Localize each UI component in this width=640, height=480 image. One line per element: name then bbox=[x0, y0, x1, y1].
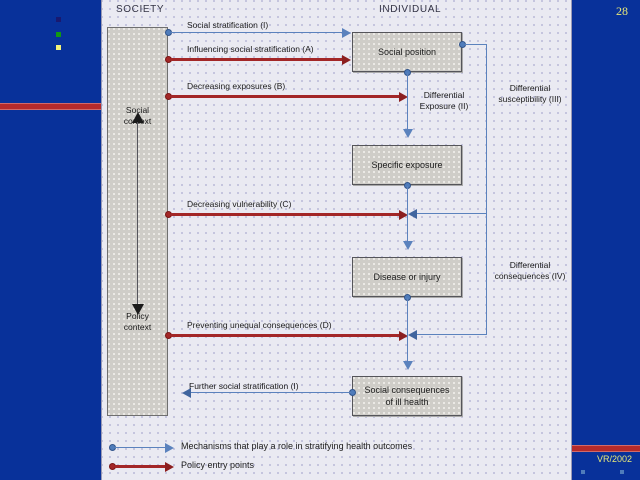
legend-label-mechanisms: Mechanisms that play a role in stratifyi… bbox=[181, 441, 412, 451]
legend-arrow-mechanisms-icon bbox=[165, 443, 174, 453]
connector-line-social-stratification bbox=[171, 32, 345, 33]
arrow-left-branch-consequences-icon bbox=[408, 330, 417, 340]
box-disease-or-injury: Disease or injury bbox=[352, 257, 462, 297]
side-label-differential-exposure: Differential Exposure (II) bbox=[408, 90, 480, 112]
connector-label-influencing-social-stratification: Influencing social stratification (A) bbox=[187, 44, 314, 54]
box-social-position: Social position bbox=[352, 32, 462, 72]
side-label-differential-susceptibility-line2: susceptibility (III) bbox=[498, 94, 561, 104]
footer-dot-left bbox=[581, 470, 585, 474]
arrow-left-branch-vulnerability-icon bbox=[408, 209, 417, 219]
arrow-down-to-specific-exposure-icon bbox=[403, 129, 413, 138]
connector-label-decreasing-vulnerability: Decreasing vulnerability (C) bbox=[187, 199, 291, 209]
arrow-right-social-stratification-icon bbox=[342, 28, 351, 38]
legend-label-policy: Policy entry points bbox=[181, 460, 254, 470]
heading-individual: INDIVIDUAL bbox=[379, 4, 441, 15]
context-label-policy-line2: context bbox=[107, 322, 168, 333]
legend-line-policy bbox=[115, 465, 168, 468]
box-social-consequences: Social consequences of ill health bbox=[352, 376, 462, 416]
connector-line-preventing-unequal-consequences bbox=[171, 334, 402, 337]
decor-dot-green bbox=[56, 32, 61, 37]
connector-label-social-stratification: Social stratification (I) bbox=[187, 20, 268, 30]
side-label-differential-exposure-line1: Differential bbox=[424, 90, 464, 100]
connector-label-decreasing-exposures: Decreasing exposures (B) bbox=[187, 81, 285, 91]
connector-label-preventing-unequal-consequences: Preventing unequal consequences (D) bbox=[187, 320, 332, 330]
spine-line-branch-consequences bbox=[417, 334, 487, 335]
side-label-differential-consequences-line2: consequences (IV) bbox=[495, 271, 566, 281]
decor-dot-navy bbox=[56, 17, 61, 22]
connector-line-decreasing-exposures bbox=[171, 95, 402, 98]
spine-line-position-right-out bbox=[465, 44, 486, 45]
slide-footer: VR/2002 bbox=[597, 454, 632, 464]
box-specific-exposure-label: Specific exposure bbox=[371, 159, 442, 171]
box-social-consequences-label-line2: of ill health bbox=[385, 396, 428, 408]
right-red-rule bbox=[572, 446, 640, 451]
connector-label-further-social-stratification: Further social stratification (I) bbox=[189, 381, 299, 391]
spine-line-branch-vulnerability bbox=[417, 213, 487, 214]
side-label-differential-consequences: Differential consequences (IV) bbox=[486, 260, 572, 282]
side-label-differential-susceptibility-line1: Differential bbox=[510, 83, 550, 93]
side-label-differential-susceptibility: Differential susceptibility (III) bbox=[486, 83, 572, 105]
legend-arrow-policy-icon bbox=[165, 462, 174, 472]
heading-society: SOCIETY bbox=[116, 4, 164, 15]
arrow-down-to-social-consequences-icon bbox=[403, 361, 413, 370]
legend-line-mechanisms bbox=[115, 447, 168, 448]
diagram-canvas: SOCIETY INDIVIDUAL Social context Policy… bbox=[101, 0, 572, 480]
slide: 28 VR/2002 SOCIETY INDIVIDUAL Social con… bbox=[0, 0, 640, 480]
canvas-right-edge bbox=[571, 0, 572, 480]
box-social-position-label: Social position bbox=[378, 46, 436, 58]
box-disease-or-injury-label: Disease or injury bbox=[373, 271, 440, 283]
decor-dot-yellow bbox=[56, 45, 61, 50]
connector-line-further-social-stratification bbox=[191, 392, 351, 393]
arrow-right-influencing-social-stratification-icon bbox=[342, 55, 351, 65]
box-specific-exposure: Specific exposure bbox=[352, 145, 462, 185]
side-label-differential-consequences-line1: Differential bbox=[510, 260, 550, 270]
left-red-rule bbox=[0, 104, 101, 109]
slide-number: 28 bbox=[616, 4, 628, 19]
side-label-differential-exposure-line2: Exposure (II) bbox=[420, 101, 469, 111]
footer-dot-right bbox=[620, 470, 624, 474]
connector-line-decreasing-vulnerability bbox=[171, 213, 402, 216]
context-arrow-shaft bbox=[137, 122, 138, 308]
connector-line-influencing-social-stratification bbox=[171, 58, 345, 61]
box-social-consequences-label-line1: Social consequences bbox=[364, 384, 449, 396]
arrow-down-to-disease-icon bbox=[403, 241, 413, 250]
context-label-policy-line1: Policy bbox=[107, 311, 168, 322]
canvas-left-edge bbox=[101, 0, 102, 480]
context-arrow-up-icon bbox=[132, 112, 144, 123]
